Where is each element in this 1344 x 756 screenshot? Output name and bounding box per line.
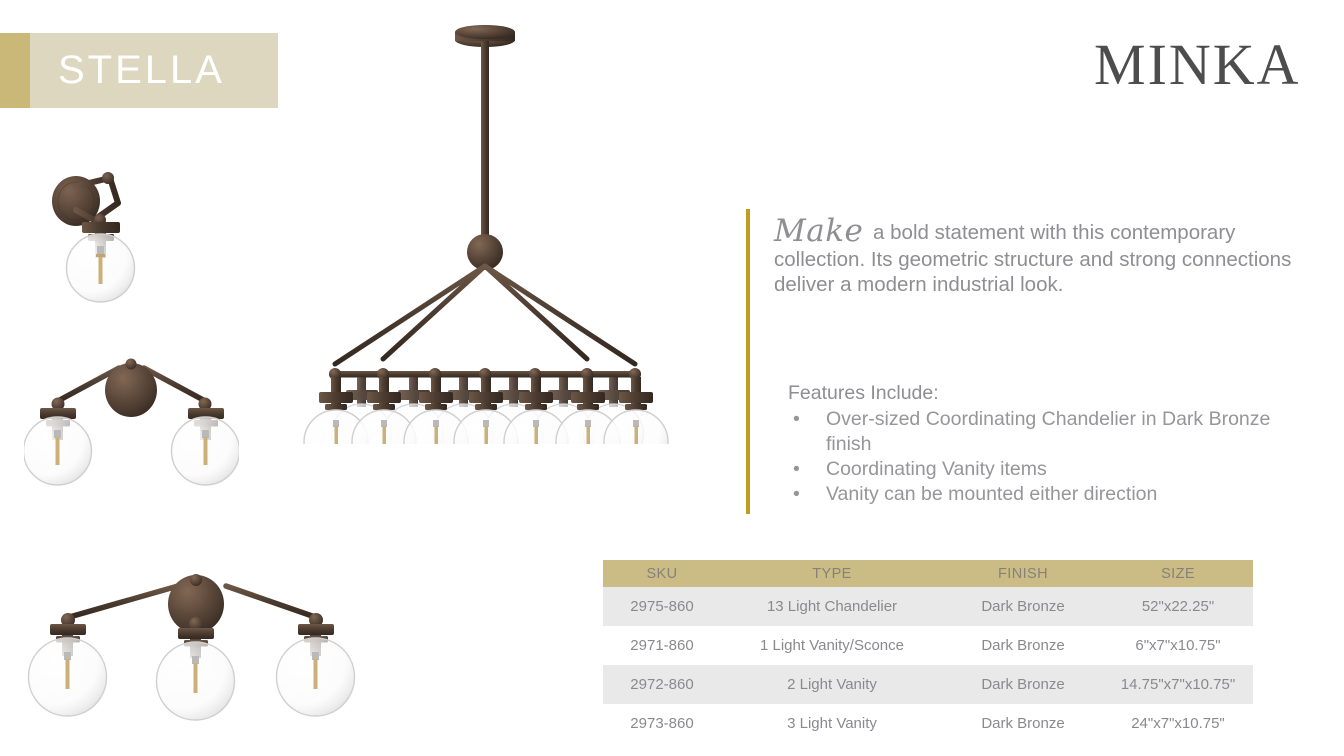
cell-size: 52"x22.25" xyxy=(1103,587,1253,626)
feature-item-label: Vanity can be mounted either direction xyxy=(826,483,1157,505)
feature-item: • Over-sized Coordinating Chandelier in … xyxy=(788,407,1308,457)
feature-item: • Coordinating Vanity items xyxy=(788,457,1308,482)
brand-logo: MINKA xyxy=(1094,36,1301,94)
bullet-icon: • xyxy=(793,457,800,482)
table-row: 2971-860 1 Light Vanity/Sconce Dark Bron… xyxy=(603,626,1253,665)
feature-item-label: Over-sized Coordinating Chandelier in Da… xyxy=(826,408,1270,455)
features-section: Features Include: • Over-sized Coordinat… xyxy=(788,381,1308,507)
cell-sku: 2973-860 xyxy=(603,704,721,743)
page-title: STELLA xyxy=(58,33,278,108)
column-header-sku: SKU xyxy=(603,560,721,587)
banner-accent-strip xyxy=(0,33,30,108)
table-row: 2972-860 2 Light Vanity Dark Bronze 14.7… xyxy=(603,665,1253,704)
product-image-3-light-vanity xyxy=(18,556,388,746)
column-header-size: SIZE xyxy=(1103,560,1253,587)
column-header-type: TYPE xyxy=(721,560,943,587)
cell-sku: 2971-860 xyxy=(603,626,721,665)
marketing-copy: Make a bold statement with this contempo… xyxy=(774,216,1304,297)
cell-finish: Dark Bronze xyxy=(943,704,1103,743)
cell-type: 1 Light Vanity/Sconce xyxy=(721,626,943,665)
bullet-icon: • xyxy=(793,407,800,432)
product-image-2-light-vanity xyxy=(24,350,239,515)
cell-type: 13 Light Chandelier xyxy=(721,587,943,626)
spec-table: SKU TYPE FINISH SIZE 2975-860 13 Light C… xyxy=(603,560,1253,743)
table-header-row: SKU TYPE FINISH SIZE xyxy=(603,560,1253,587)
cell-sku: 2972-860 xyxy=(603,665,721,704)
table-row: 2975-860 13 Light Chandelier Dark Bronze… xyxy=(603,587,1253,626)
table-row: 2973-860 3 Light Vanity Dark Bronze 24"x… xyxy=(603,704,1253,743)
features-heading: Features Include: xyxy=(788,381,1308,406)
product-image-1-light-sconce xyxy=(38,148,203,313)
cell-type: 2 Light Vanity xyxy=(721,665,943,704)
lede-script-word: Make xyxy=(774,213,867,249)
cell-finish: Dark Bronze xyxy=(943,626,1103,665)
column-header-finish: FINISH xyxy=(943,560,1103,587)
feature-list: • Over-sized Coordinating Chandelier in … xyxy=(788,407,1308,507)
feature-item-label: Coordinating Vanity items xyxy=(826,458,1047,480)
lede-paragraph: Make a bold statement with this contempo… xyxy=(774,216,1304,297)
bullet-icon: • xyxy=(793,482,800,507)
cell-size: 14.75"x7"x10.75" xyxy=(1103,665,1253,704)
cell-type: 3 Light Vanity xyxy=(721,704,943,743)
feature-item: • Vanity can be mounted either direction xyxy=(788,482,1308,507)
cell-size: 6"x7"x10.75" xyxy=(1103,626,1253,665)
cell-sku: 2975-860 xyxy=(603,587,721,626)
cell-finish: Dark Bronze xyxy=(943,665,1103,704)
cell-finish: Dark Bronze xyxy=(943,587,1103,626)
cell-size: 24"x7"x10.75" xyxy=(1103,704,1253,743)
copy-accent-bar xyxy=(746,209,750,514)
product-image-13-light-chandelier xyxy=(295,14,705,444)
